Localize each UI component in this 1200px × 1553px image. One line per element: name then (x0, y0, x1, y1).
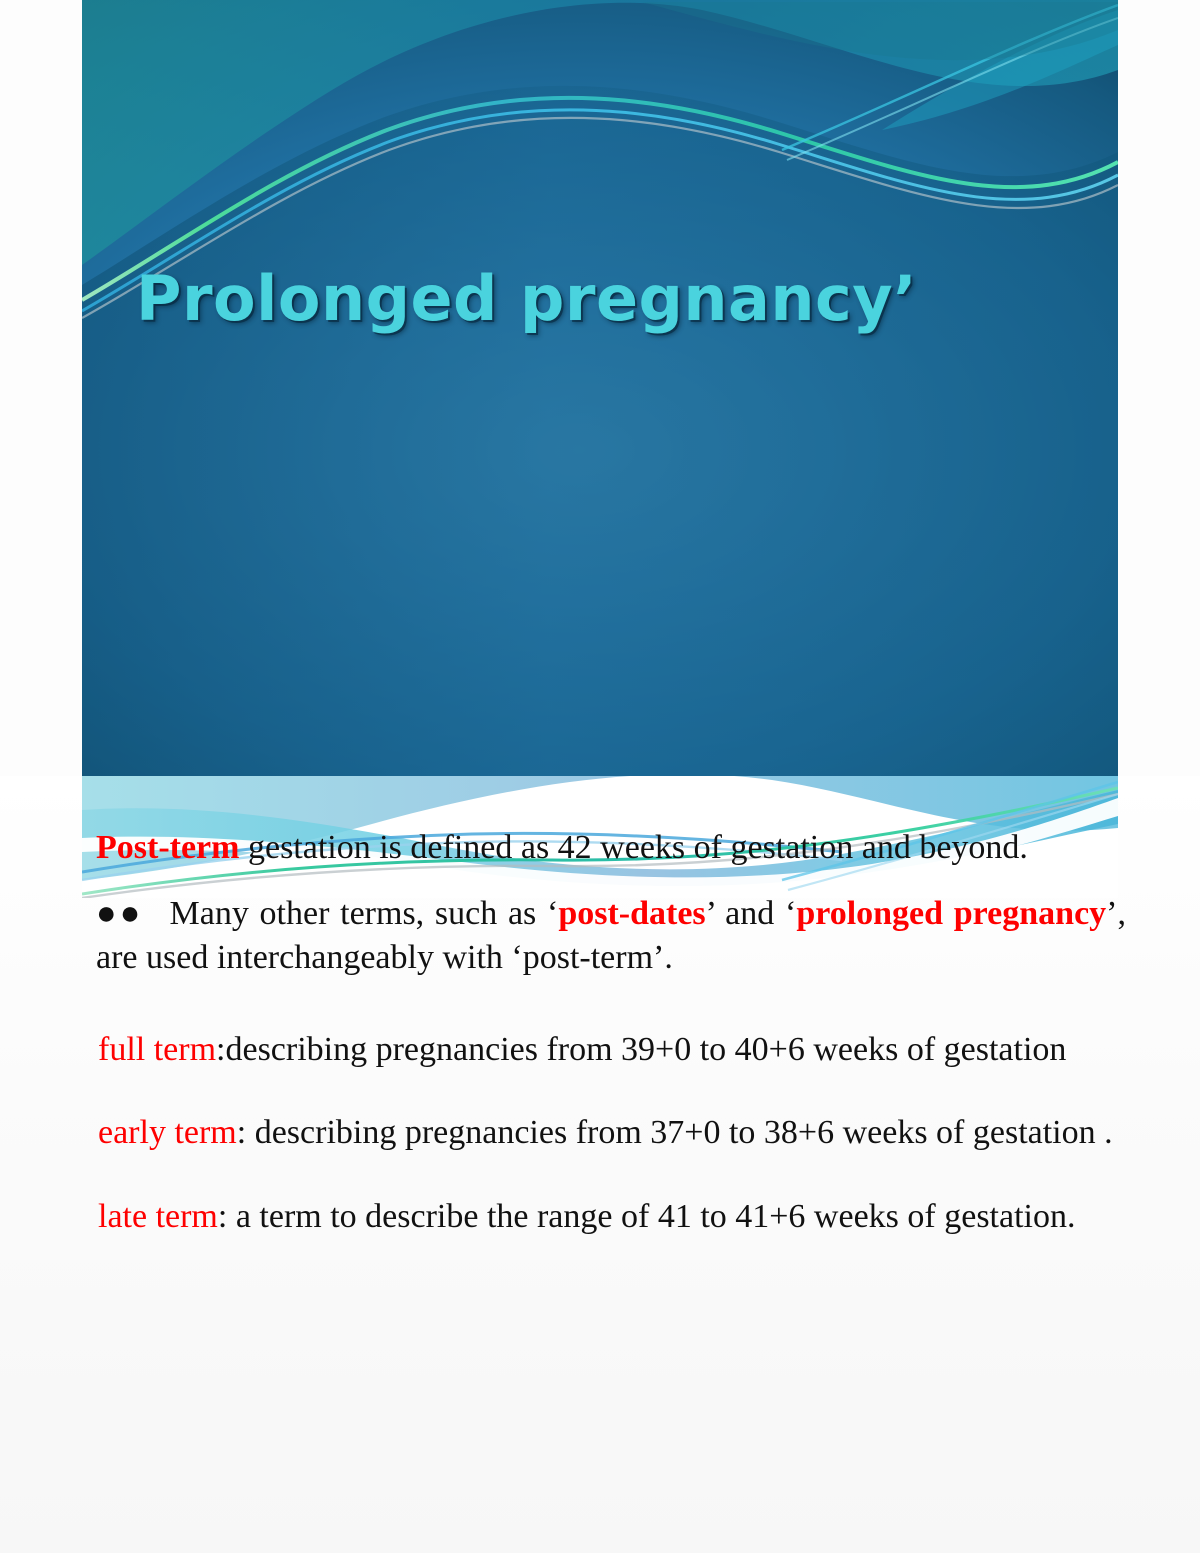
slide-body-text: Post-term gestation is defined as 42 wee… (0, 826, 1200, 1248)
highlight-prolonged-pregnancy: prolonged pregnancy (796, 895, 1106, 932)
definition-full-term-text: :describing pregnancies from 39+0 to 40+… (216, 1031, 1066, 1068)
paragraph-other-terms: ●●Many other terms, such as ‘post-dates’… (0, 892, 1200, 980)
page-title: Prolonged pregnancy’ (136, 266, 1036, 331)
definition-full-term: full term:describing pregnancies from 39… (0, 1019, 1200, 1081)
highlight-post-dates: post-dates (558, 895, 705, 932)
definition-early-term-text: : describing pregnancies from 37+0 to 38… (237, 1114, 1113, 1151)
other-terms-text-2: ’ and ‘ (706, 895, 797, 932)
definition-early-term: early term: describing pregnancies from … (0, 1102, 1200, 1164)
title-slide-panel (82, 0, 1118, 776)
other-terms-text-1: Many other terms, such as ‘ (170, 895, 559, 932)
definition-late-term-text: : a term to describe the range of 41 to … (218, 1198, 1076, 1235)
label-early-term: early term (98, 1114, 237, 1151)
label-full-term: full term (98, 1031, 216, 1068)
double-bullet-icon: ●● (96, 895, 170, 932)
paragraph-post-term: Post-term gestation is defined as 42 wee… (0, 826, 1200, 870)
top-wave-graphic (82, 0, 1118, 776)
highlight-post-term: Post-term (96, 829, 239, 866)
label-late-term: late term (98, 1198, 218, 1235)
slide-page: Prolonged pregnancy’ (0, 0, 1200, 1553)
definition-late-term: late term: a term to describe the range … (0, 1186, 1200, 1248)
paragraph-post-term-rest: gestation is defined as 42 weeks of gest… (239, 829, 1027, 866)
